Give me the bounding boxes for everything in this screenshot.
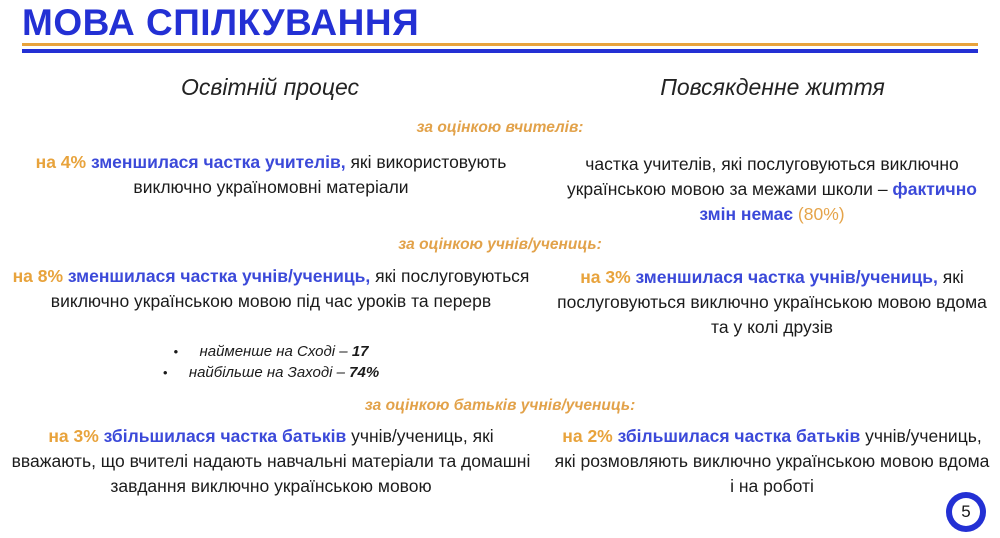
page-number-value: 5 — [952, 498, 980, 526]
stat-highlight-pupils-right: зменшилася частка учнів/учениць, — [636, 267, 938, 287]
bullet-icon: • — [163, 362, 189, 383]
divider-orange — [22, 43, 978, 46]
bullet-item-east: найменше на Сході – 17 — [199, 341, 368, 362]
stat-value-parents-right: на 2% — [562, 426, 617, 446]
stat-value-teachers-right: (80%) — [793, 204, 845, 224]
bullet-label-west: найбільше на Заході – — [189, 364, 349, 381]
stat-highlight-parents-right: збільшилася частка батьків — [618, 426, 861, 446]
bullet-icon: • — [173, 341, 199, 362]
stat-block-teachers-left: на 4% зменшилася частка учителів, які ви… — [10, 150, 532, 200]
slide-root: МОВА СПІЛКУВАННЯ Освітній процес Повсякд… — [0, 0, 1000, 538]
page-title: МОВА СПІЛКУВАННЯ — [22, 2, 419, 44]
stat-highlight-pupils-left: зменшилася частка учнів/учениць, — [68, 266, 370, 286]
stat-block-teachers-right: частка учителів, які послуговуються викл… — [552, 152, 992, 227]
stat-value-pupils-right: на 3% — [580, 267, 635, 287]
stat-block-pupils-right: на 3% зменшилася частка учнів/учениць, я… — [552, 265, 992, 340]
stat-highlight-parents-left: збільшилася частка батьків — [104, 426, 347, 446]
section-label-teachers: за оцінкою вчителів: — [0, 119, 1000, 137]
section-label-parents: за оцінкою батьків учнів/учениць: — [0, 397, 1000, 415]
bullet-label-east: найменше на Сході – — [199, 343, 351, 360]
bullet-item-west: найбільше на Заході – 74% — [189, 362, 379, 383]
stat-block-parents-right: на 2% збільшилася частка батьків учнів/у… — [552, 424, 992, 499]
stat-value-teachers-left: на 4% — [36, 152, 91, 172]
stat-value-pupils-left: на 8% — [13, 266, 68, 286]
column-heading-left: Освітній процес — [0, 74, 540, 101]
column-heading-right: Повсякденне життя — [545, 74, 1000, 101]
divider-blue — [22, 49, 978, 53]
bullet-value-east: 17 — [352, 343, 369, 360]
bullet-value-west: 74% — [349, 364, 379, 381]
section-label-pupils: за оцінкою учнів/учениць: — [0, 236, 1000, 254]
stat-highlight-teachers-left: зменшилася частка учителів, — [91, 152, 346, 172]
page-number-badge: 5 — [946, 492, 986, 532]
list-item: • найменше на Сході – 17 — [10, 341, 532, 362]
list-item: • найбільше на Заході – 74% — [10, 362, 532, 383]
stat-block-parents-left: на 3% збільшилася частка батьків учнів/у… — [10, 424, 532, 499]
stat-value-parents-left: на 3% — [48, 426, 103, 446]
bullet-list-regions: • найменше на Сході – 17 • найбільше на … — [10, 341, 532, 383]
stat-block-pupils-left: на 8% зменшилася частка учнів/учениць, я… — [10, 264, 532, 314]
